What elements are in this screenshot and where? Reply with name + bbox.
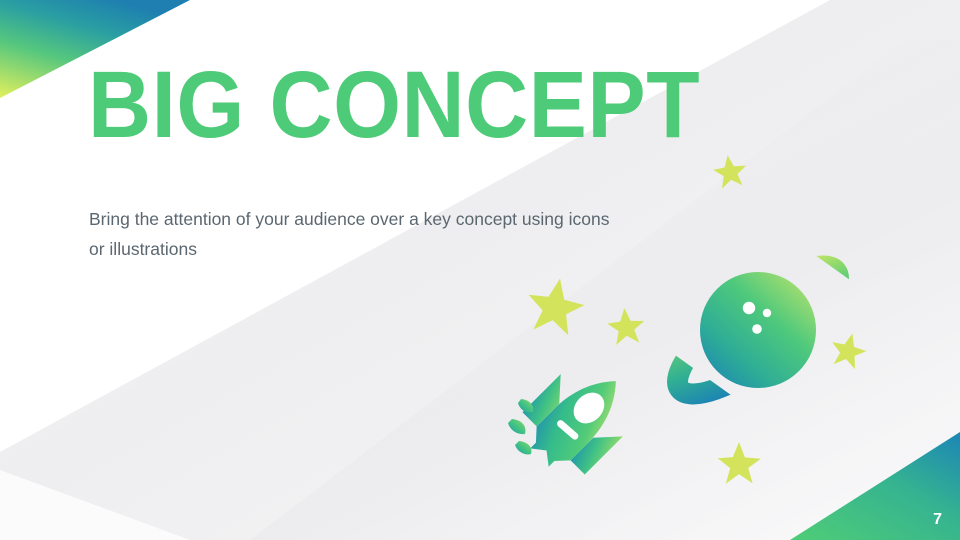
- page-title: BIG CONCEPT: [88, 58, 700, 153]
- page-number: 7: [933, 512, 942, 528]
- subtitle-text: Bring the attention of your audience ove…: [89, 204, 629, 264]
- slide-canvas: BIG CONCEPT Bring the attention of your …: [0, 0, 960, 540]
